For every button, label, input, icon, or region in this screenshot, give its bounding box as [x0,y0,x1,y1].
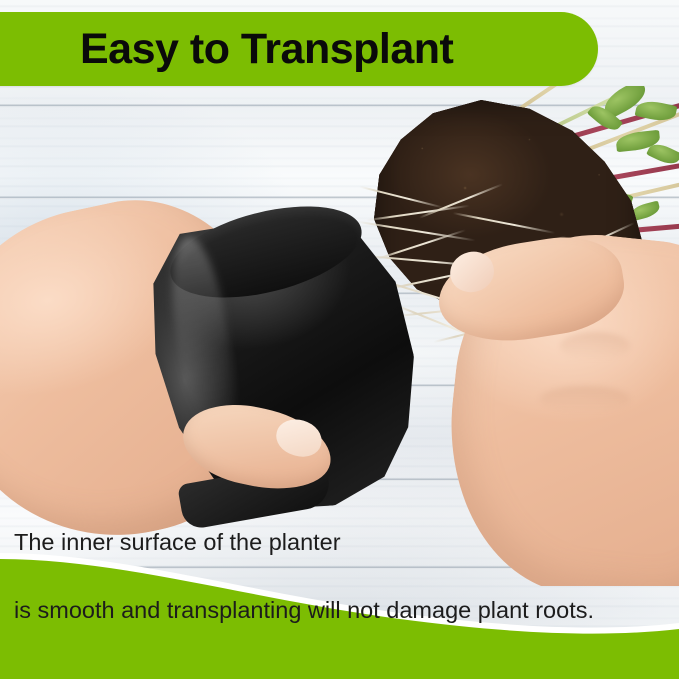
right-hand-crease-shade [540,386,630,412]
header-banner: Easy to Transplant [0,12,598,86]
product-feature-image: Easy to Transplant The inner surface of … [0,0,679,679]
page-title: Easy to Transplant [80,28,453,71]
footer-line-1: The inner surface of the planter [14,525,654,559]
right-hand-knuckle-shade [560,332,630,360]
footer-line-2: is smooth and transplanting will not dam… [14,593,654,627]
footer-description: The inner surface of the planter is smoo… [14,491,654,661]
